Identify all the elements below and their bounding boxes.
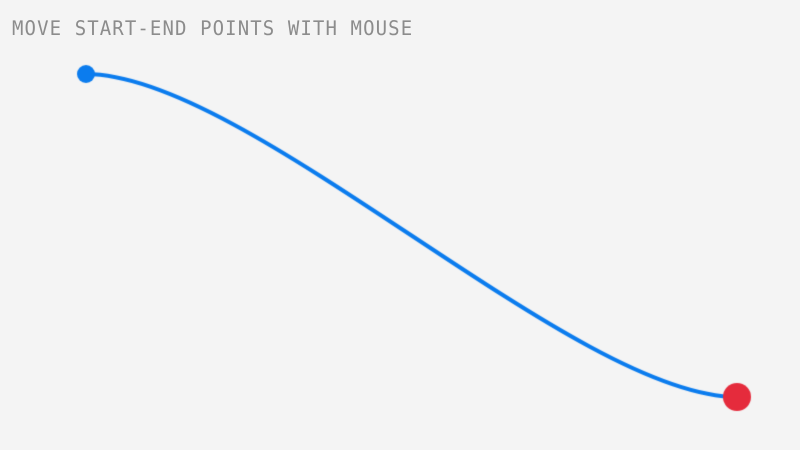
page-title: MOVE START-END POINTS WITH MOUSE bbox=[12, 17, 413, 40]
bezier-curve-canvas[interactable] bbox=[0, 0, 800, 450]
bezier-editor-canvas-area[interactable]: MOVE START-END POINTS WITH MOUSE bbox=[0, 0, 800, 450]
